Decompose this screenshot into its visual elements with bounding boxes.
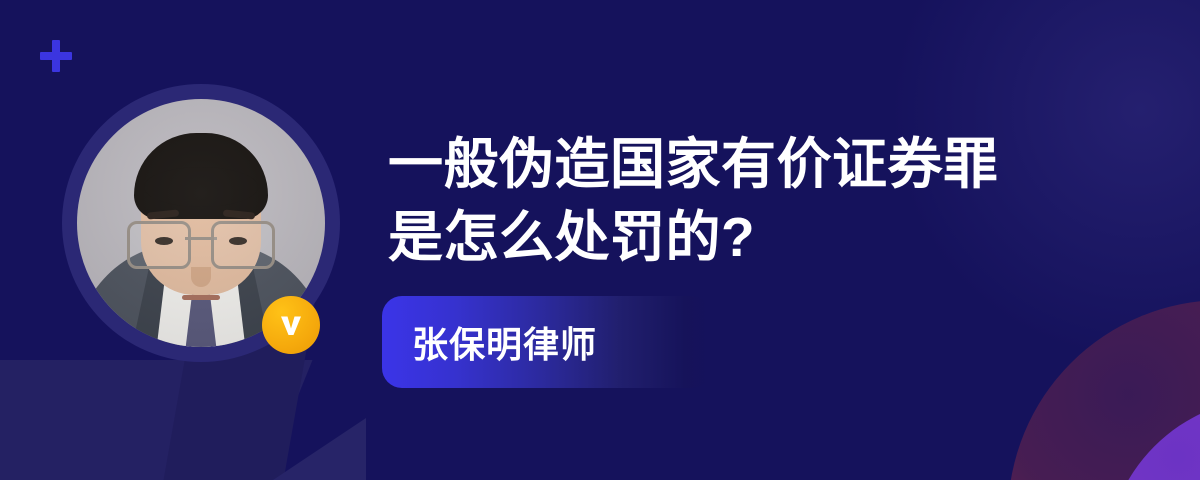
lawyer-name-badge[interactable]: 张保明律师 bbox=[382, 296, 712, 388]
lawyer-qa-banner: 一般伪造国家有价证券罪 是怎么处罚的? 张保明律师 bbox=[0, 0, 1200, 480]
verified-check-icon bbox=[262, 296, 320, 354]
plus-icon bbox=[40, 40, 72, 72]
lawyer-name-label: 张保明律师 bbox=[382, 316, 597, 368]
page-title: 一般伪造国家有价证券罪 是怎么处罚的? bbox=[388, 128, 1088, 273]
